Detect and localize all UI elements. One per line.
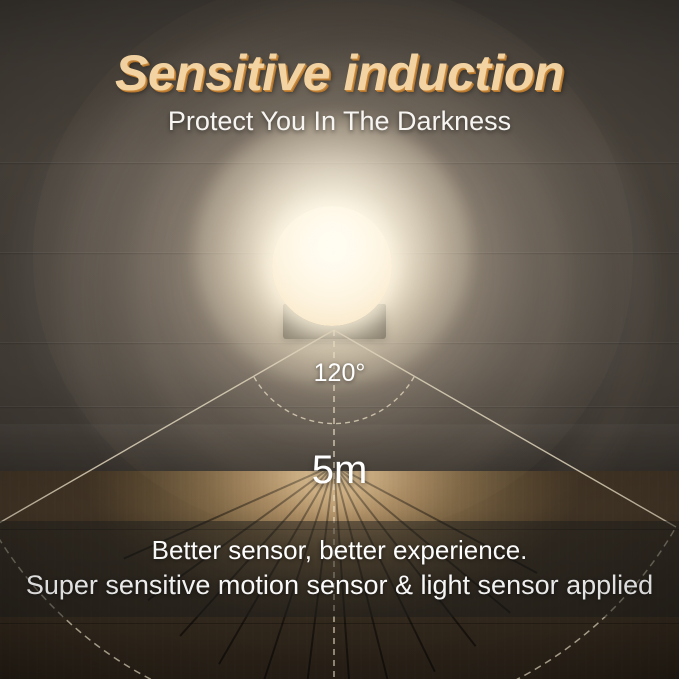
caption-line-2: Super sensitive motion sensor & light se… (0, 570, 679, 601)
page-subtitle: Protect You In The Darkness (0, 106, 679, 137)
wall-seam-line (0, 162, 679, 163)
distance-label: 5m (0, 448, 679, 493)
sphere-lamp-icon (272, 206, 392, 326)
angle-label: 120° (0, 359, 679, 388)
page-title: Sensitive induction (0, 44, 679, 102)
wall-seam-line (0, 406, 679, 407)
wall-seam-line (0, 342, 679, 343)
floor-plank-edge (0, 623, 679, 624)
caption-line-1: Better sensor, better experience. (0, 535, 679, 566)
product-marketing-image: Sensitive induction Protect You In The D… (0, 0, 679, 679)
